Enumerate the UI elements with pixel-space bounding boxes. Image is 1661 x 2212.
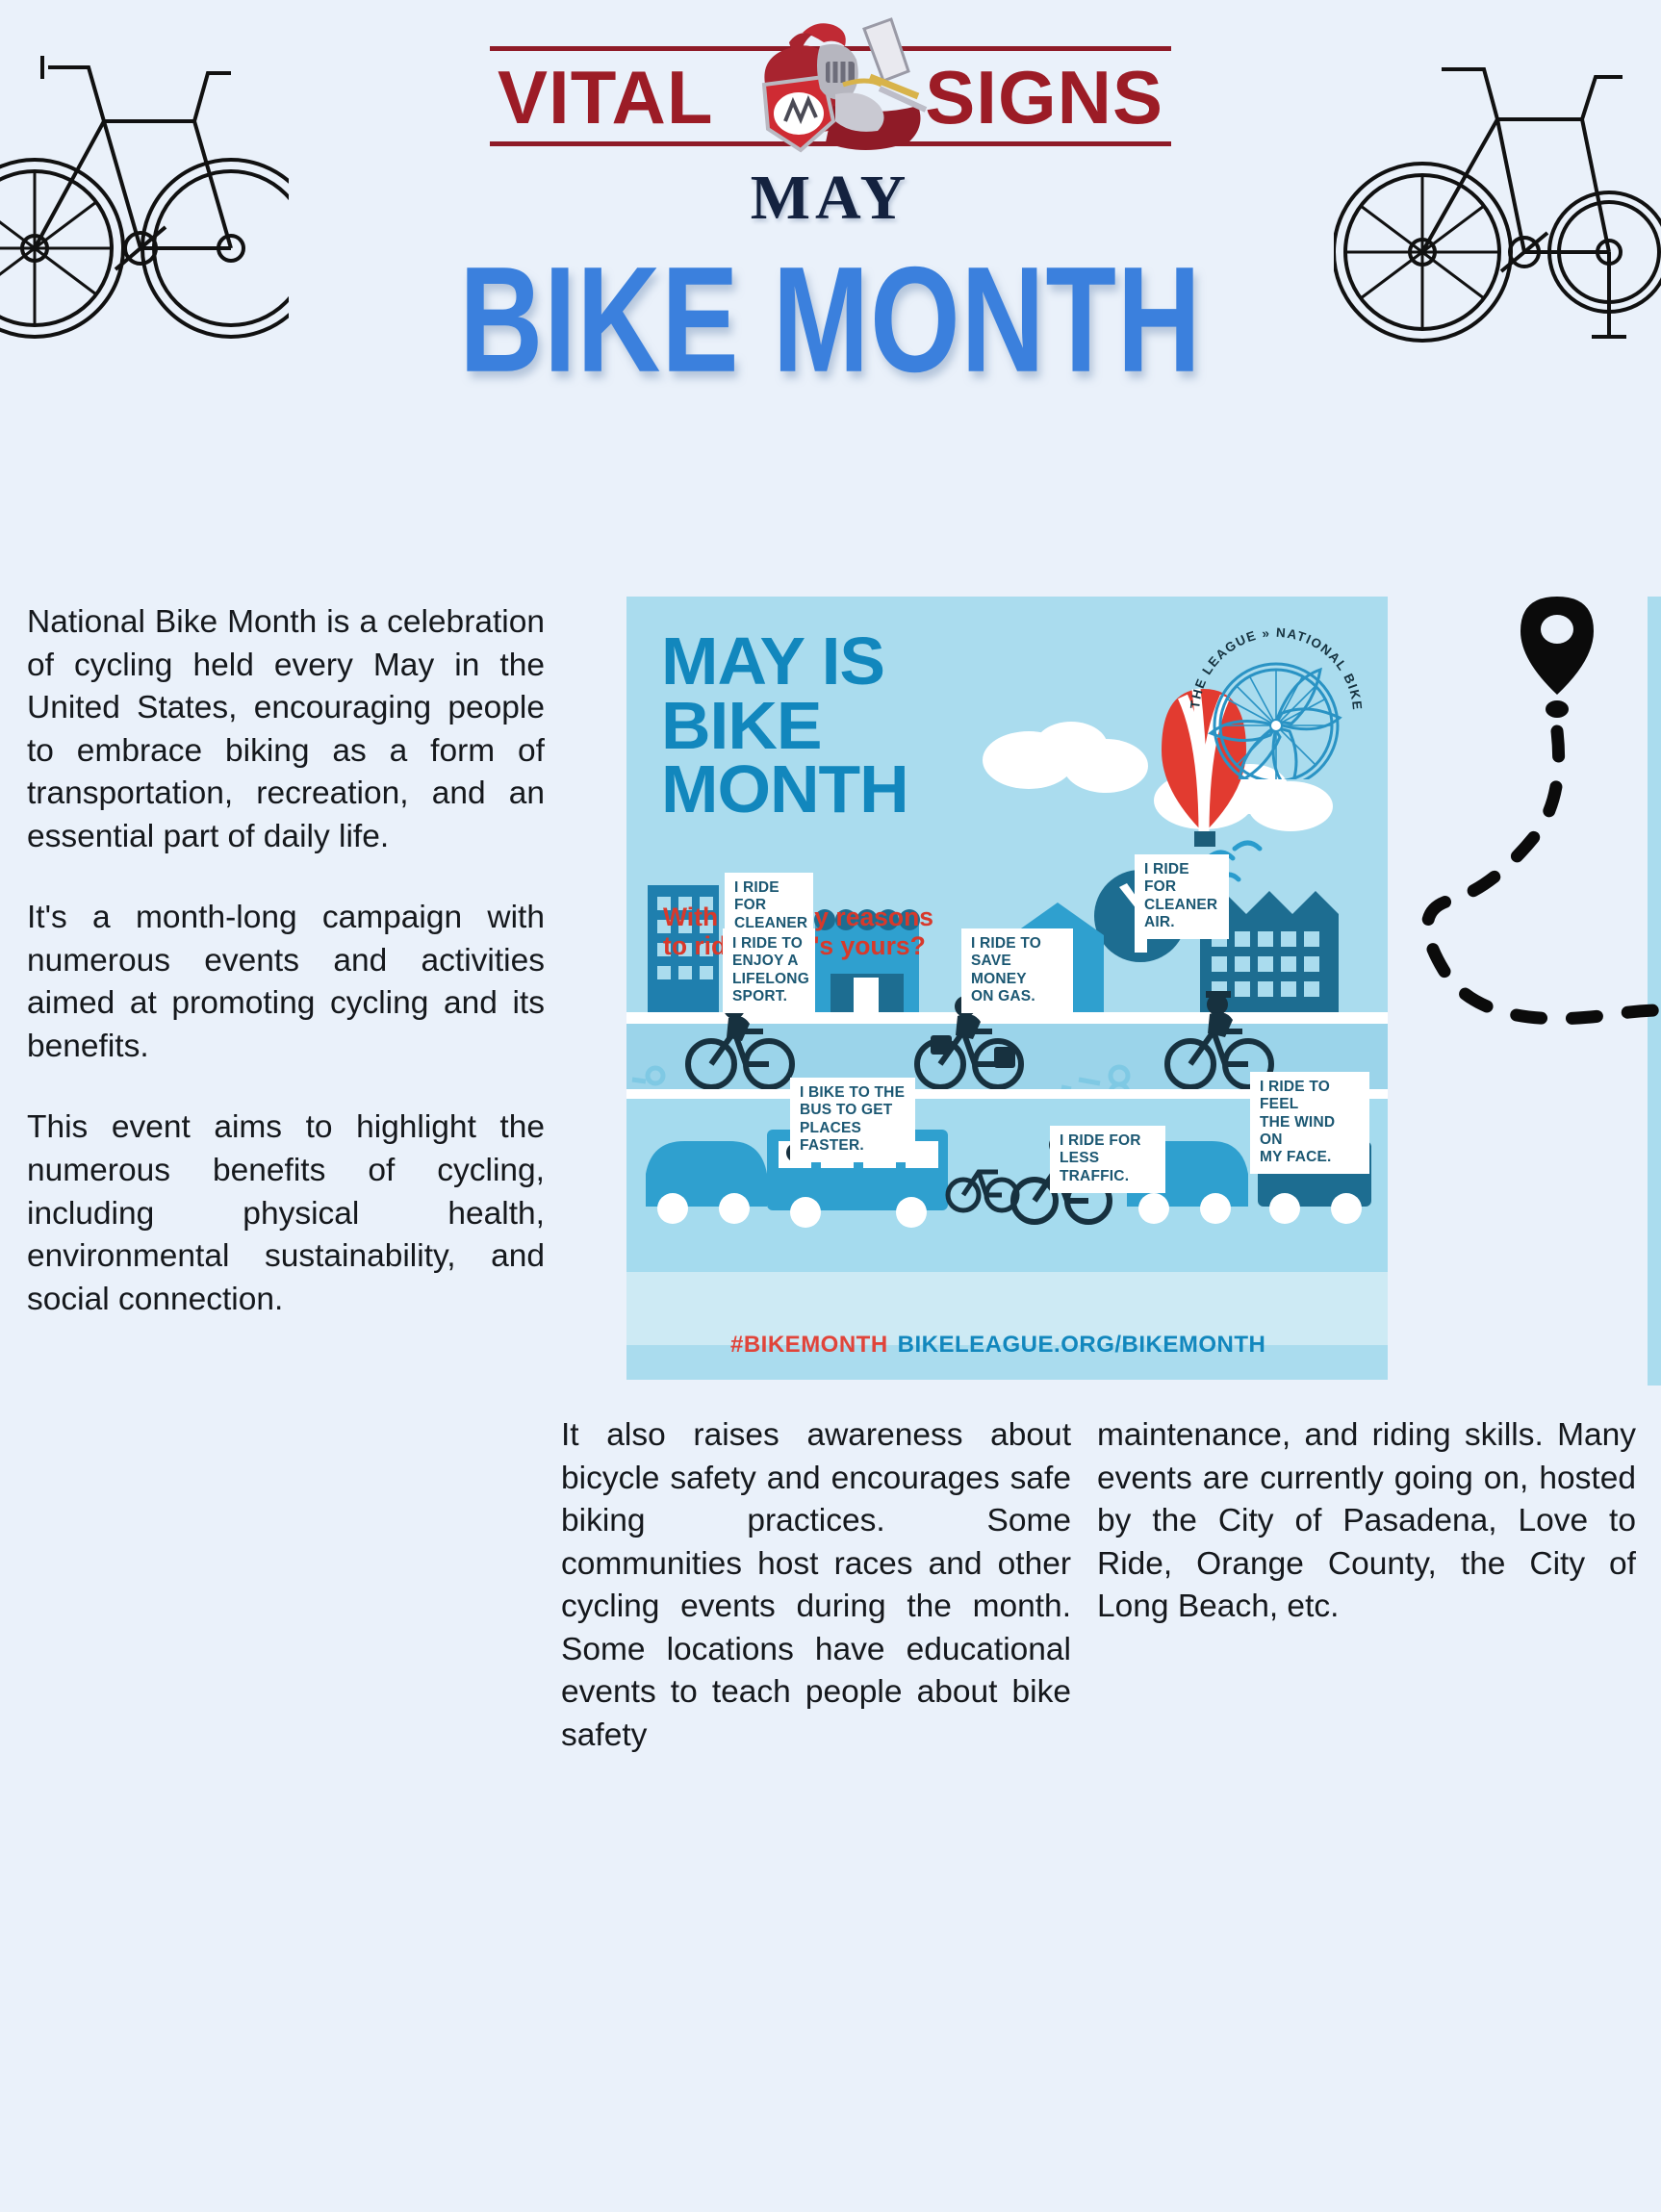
bike-month-poster-image: MAY IS BIKE MONTH With so many reasons t… [626, 597, 1388, 1380]
poster-title-line-2: BIKE [661, 694, 908, 758]
bubble-save-money: I RIDE TO SAVE MONEY ON GAS. [961, 928, 1073, 1013]
body-column-right: maintenance, and riding skills. Many eve… [1097, 1414, 1636, 1629]
bubble-lifelong-sport: I RIDE TO ENJOY A LIFELONG SPORT. [723, 928, 815, 1013]
body-column-left: National Bike Month is a celebration of … [27, 601, 545, 1321]
paragraph: National Bike Month is a celebration of … [27, 601, 545, 858]
paragraph: maintenance, and riding skills. Many eve… [1097, 1414, 1636, 1629]
badge-arc-text: THE LEAGUE » NATIONAL BIKE MONTH [1184, 606, 1365, 716]
body-column-middle: It also raises awareness about bicycle s… [561, 1414, 1071, 1757]
page-title: BIKE MONTH [50, 234, 1611, 406]
bubble-cleaner-air-real: I RIDE FOR CLEANER AIR. [1135, 854, 1229, 939]
vital-signs-logo: VITAL SIGNS [484, 27, 1177, 162]
brand-masthead: VITAL SIGNS [0, 27, 1661, 162]
bubble-wind-face: I RIDE TO FEEL THE WIND ON MY FACE. [1250, 1072, 1369, 1174]
poster-hashtag: #BIKEMONTH [730, 1332, 888, 1358]
poster-title-line-3: MONTH [661, 757, 908, 822]
poster-page: VITAL SIGNS [0, 0, 1661, 2212]
bubble-bus-faster: I BIKE TO THE BUS TO GET PLACES FASTER. [790, 1078, 915, 1162]
poster-edge-strip [1648, 597, 1661, 1386]
brand-word-vital: VITAL [498, 54, 714, 135]
paragraph: It also raises awareness about bicycle s… [561, 1414, 1071, 1757]
svg-text:THE LEAGUE » NATIONAL BIKE MON: THE LEAGUE » NATIONAL BIKE MONTH [1184, 606, 1365, 716]
bubble-less-traffic: I RIDE FOR LESS TRAFFIC. [1050, 1126, 1165, 1193]
paragraph: It's a month-long campaign with numerous… [27, 897, 545, 1068]
knight-mascot-icon [720, 13, 941, 167]
map-pin-icon [1520, 597, 1594, 718]
poster-title-line-1: MAY IS [661, 629, 908, 694]
paragraph: This event aims to highlight the numerou… [27, 1106, 545, 1321]
brand-word-signs: SIGNS [925, 54, 1163, 135]
poster-footer: #BIKEMONTHBIKELEAGUE.ORG/BIKEMONTH [730, 1332, 1265, 1359]
page-eyebrow: MAY [0, 162, 1661, 235]
bike-wheel-wing-icon: THE LEAGUE » NATIONAL BIKE MONTH [1184, 606, 1372, 779]
poster-url: BIKELEAGUE.ORG/BIKEMONTH [898, 1332, 1266, 1358]
dashed-route-icon [1393, 587, 1661, 1260]
poster-title: MAY IS BIKE MONTH [661, 629, 908, 822]
